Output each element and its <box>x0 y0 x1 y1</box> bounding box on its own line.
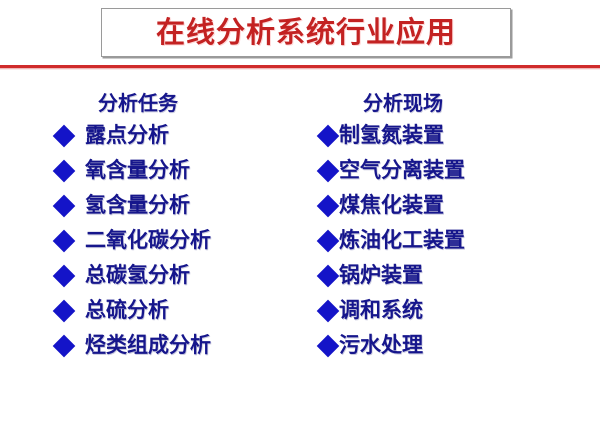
column-analysis-tasks: 分析任务 露点分析 氧含量分析 氢含量分析 二氧化碳分析 总碳氢分析 <box>56 88 306 363</box>
list-item: 锅炉装置 <box>320 258 580 293</box>
list-item: 污水处理 <box>320 328 580 363</box>
list-item-label: 总硫分析 <box>85 300 169 321</box>
diamond-bullet-icon <box>53 125 76 148</box>
diamond-bullet-icon <box>317 160 340 183</box>
list-item-label: 氧含量分析 <box>85 160 190 181</box>
diamond-bullet-icon <box>53 160 76 183</box>
list-item-label: 炼油化工装置 <box>339 230 465 251</box>
list-item-label: 锅炉装置 <box>339 265 423 286</box>
column-heading-analysis-tasks: 分析任务 <box>56 88 306 118</box>
list-item-label: 制氢氮装置 <box>339 125 444 146</box>
list-item: 制氢氮装置 <box>320 118 580 153</box>
diamond-bullet-icon <box>317 230 340 253</box>
list-item-label: 二氧化碳分析 <box>85 230 211 251</box>
list-item-label: 烃类组成分析 <box>85 335 211 356</box>
diamond-bullet-icon <box>317 300 340 323</box>
list-item-label: 氢含量分析 <box>85 195 190 216</box>
list-item: 氧含量分析 <box>56 153 306 188</box>
list-item: 总碳氢分析 <box>56 258 306 293</box>
diamond-bullet-icon <box>317 335 340 358</box>
list-item-label: 总碳氢分析 <box>85 265 190 286</box>
list-item: 空气分离装置 <box>320 153 580 188</box>
column-analysis-sites: 分析现场 制氢氮装置 空气分离装置 煤焦化装置 炼油化工装置 锅炉装置 <box>320 88 580 363</box>
diamond-bullet-icon <box>53 300 76 323</box>
diamond-bullet-icon <box>53 335 76 358</box>
page-title: 在线分析系统行业应用 <box>156 18 456 47</box>
diamond-bullet-icon <box>317 125 340 148</box>
list-item: 二氧化碳分析 <box>56 223 306 258</box>
list-item: 炼油化工装置 <box>320 223 580 258</box>
title-divider-rule-shadow <box>0 68 600 70</box>
title-box: 在线分析系统行业应用 <box>101 8 511 57</box>
diamond-bullet-icon <box>53 230 76 253</box>
list-item-label: 调和系统 <box>339 300 423 321</box>
list-item: 氢含量分析 <box>56 188 306 223</box>
list-item-label: 污水处理 <box>339 335 423 356</box>
list-analysis-tasks: 露点分析 氧含量分析 氢含量分析 二氧化碳分析 总碳氢分析 总硫分析 <box>56 118 306 363</box>
list-item: 总硫分析 <box>56 293 306 328</box>
diamond-bullet-icon <box>317 265 340 288</box>
diamond-bullet-icon <box>53 195 76 218</box>
list-item: 露点分析 <box>56 118 306 153</box>
list-analysis-sites: 制氢氮装置 空气分离装置 煤焦化装置 炼油化工装置 锅炉装置 调和系统 <box>320 118 580 363</box>
diamond-bullet-icon <box>53 265 76 288</box>
list-item: 调和系统 <box>320 293 580 328</box>
list-item-label: 煤焦化装置 <box>339 195 444 216</box>
list-item: 煤焦化装置 <box>320 188 580 223</box>
diamond-bullet-icon <box>317 195 340 218</box>
slide-title-area: 在线分析系统行业应用 <box>0 0 600 66</box>
column-heading-analysis-sites: 分析现场 <box>320 88 580 118</box>
list-item: 烃类组成分析 <box>56 328 306 363</box>
list-item-label: 空气分离装置 <box>339 160 465 181</box>
content-columns: 分析任务 露点分析 氧含量分析 氢含量分析 二氧化碳分析 总碳氢分析 <box>0 88 600 388</box>
list-item-label: 露点分析 <box>85 125 169 146</box>
